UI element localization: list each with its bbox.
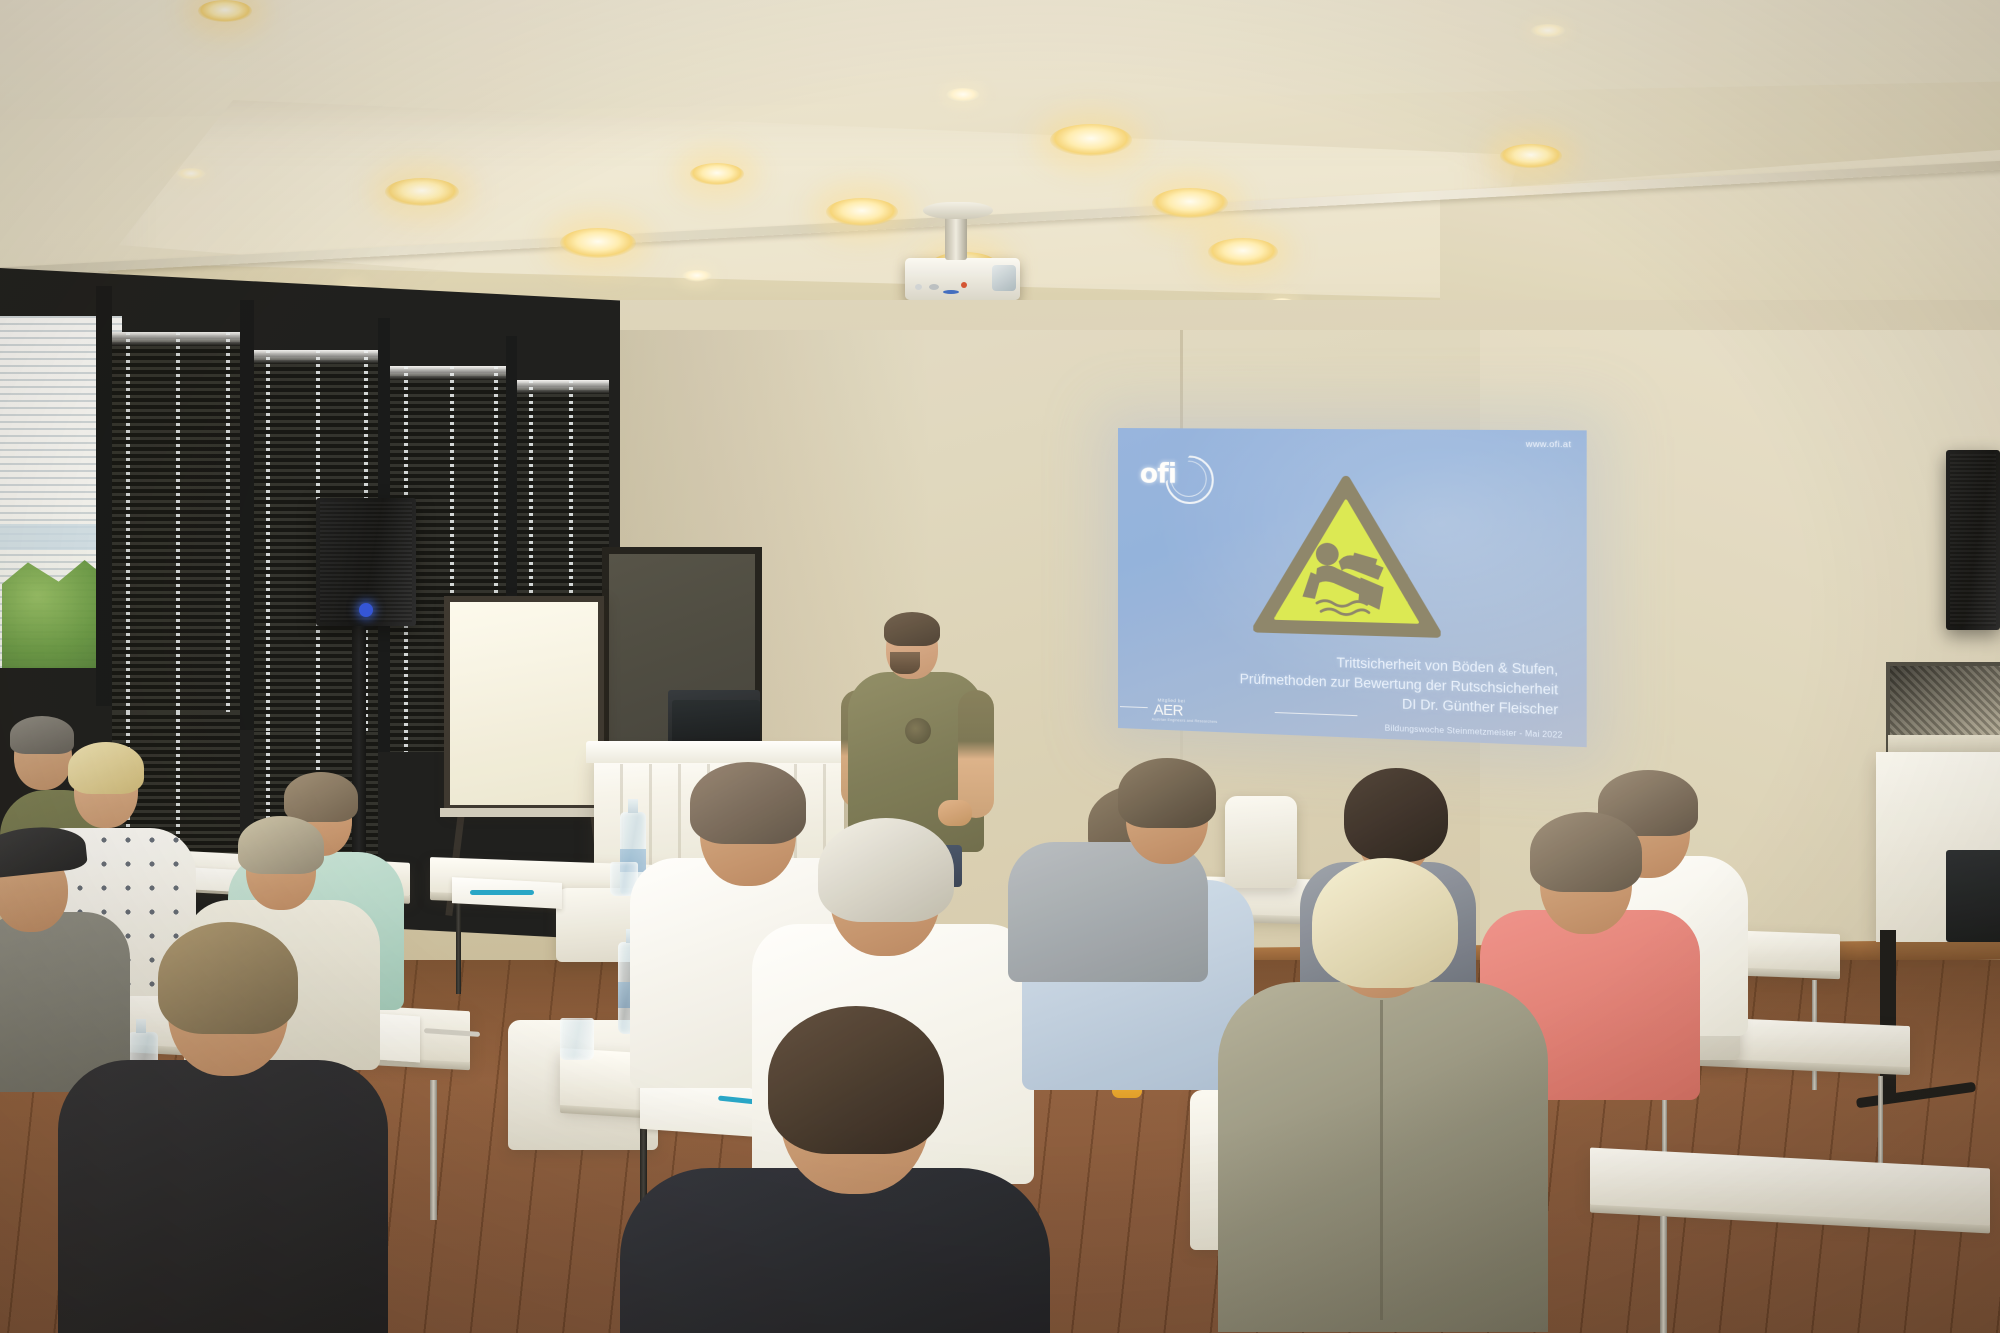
downlight: [560, 228, 636, 258]
presenter-hand-on-hip: [938, 800, 972, 826]
presenter-beard: [890, 652, 920, 674]
blind-cord: [266, 350, 270, 738]
projector-lens: [992, 265, 1016, 291]
attendee-hair: [1530, 812, 1642, 892]
equipment-monitor: [1946, 850, 2000, 942]
speaker-power-led: [359, 603, 373, 617]
presenter-hair: [884, 612, 940, 646]
presenter-right-arm: [958, 690, 994, 818]
downlight: [682, 270, 712, 282]
flipchart-tray: [440, 808, 610, 817]
table-leg: [456, 898, 461, 994]
attendee-hair: [1118, 758, 1216, 828]
downlight: [1152, 188, 1228, 218]
pen[interactable]: [470, 890, 534, 895]
speaker-grill: [1950, 454, 1996, 626]
downlight: [1530, 24, 1566, 38]
monitor-stand: [1880, 930, 1896, 1100]
slip-hazard-warning-icon: [1253, 473, 1440, 639]
window-mullion: [96, 286, 112, 706]
attendee-torso: [1218, 982, 1548, 1332]
attendee-hair: [68, 742, 144, 794]
projected-slide: www.ofi.at ofi Trittsicherh: [1118, 428, 1587, 747]
attendee-hair: [158, 922, 298, 1034]
blind-cord: [176, 332, 180, 716]
attendee-hair: [1312, 858, 1458, 988]
attendee-torso: [620, 1168, 1050, 1333]
speaker-stand-left: [352, 620, 366, 880]
slide-url: www.ofi.at: [1526, 438, 1572, 449]
flipchart-blank-sheet[interactable]: [444, 596, 604, 811]
wall-speaker-right: [1946, 450, 2000, 630]
downlight: [690, 163, 744, 185]
downlight: [946, 88, 980, 102]
downlight: [1050, 124, 1132, 156]
ceiling-projector: [905, 258, 1020, 300]
attendee-hair: [10, 716, 74, 754]
table-leg: [1660, 1216, 1667, 1333]
downlight: [1500, 144, 1562, 168]
presenter-shirt-emblem: [905, 718, 931, 744]
downlight: [198, 0, 252, 22]
downlight: [1208, 238, 1278, 266]
attendee-hair: [690, 762, 806, 844]
projector-indicator: [943, 290, 959, 294]
blind-cord: [126, 332, 130, 716]
downlight: [176, 168, 206, 180]
table-leg: [430, 1080, 437, 1220]
ofi-logo-text: ofi: [1140, 460, 1176, 488]
window-blind: [112, 332, 240, 716]
downlight: [826, 198, 898, 226]
ceiling-soffit: [0, 0, 2000, 120]
attendee-torso: [58, 1060, 388, 1333]
wall-speaker-left: [316, 498, 416, 626]
ofi-logo: ofi: [1140, 454, 1208, 505]
attendee-hair: [1344, 768, 1448, 862]
attendee-hair: [768, 1006, 944, 1154]
attendee-hair: [818, 818, 954, 922]
projector-indicator: [961, 282, 967, 288]
seminar-room-photo: www.ofi.at ofi Trittsicherh: [0, 0, 2000, 1333]
attendee-hair: [238, 816, 324, 874]
blind-cord: [226, 332, 230, 716]
downlight: [385, 178, 459, 206]
drinking-glass[interactable]: [560, 1018, 594, 1060]
projector-indicator: [915, 284, 922, 290]
jacket-seam: [1380, 1000, 1383, 1320]
window-mullion: [240, 300, 254, 730]
attendee-hair: [284, 772, 358, 822]
chair[interactable]: [1225, 796, 1297, 888]
projector-indicator: [929, 284, 939, 290]
